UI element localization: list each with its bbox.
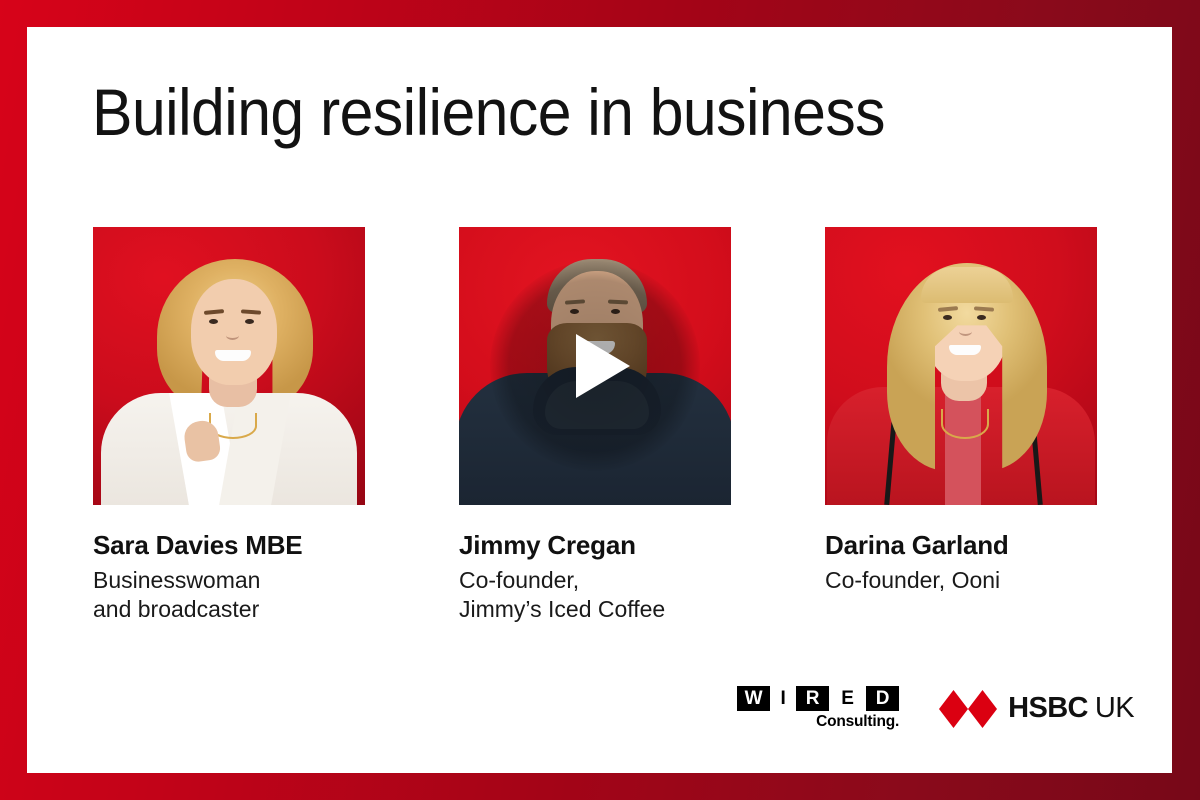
speaker-role: Co-founder, Jimmy’s Iced Coffee bbox=[459, 566, 737, 625]
speaker-name: Sara Davies MBE bbox=[93, 531, 371, 560]
nose-shape bbox=[226, 331, 239, 340]
portrait-darina-garland bbox=[825, 227, 1097, 505]
necklace-shape bbox=[941, 409, 989, 439]
eye-right bbox=[245, 319, 254, 324]
promo-card: Building resilience in business bbox=[0, 0, 1200, 800]
wired-letter-e: E bbox=[831, 686, 864, 711]
hsbc-hexagon-icon bbox=[939, 690, 997, 728]
card-inner: Building resilience in business bbox=[27, 27, 1172, 773]
mouth-shape bbox=[215, 350, 251, 361]
placket-shape bbox=[945, 387, 981, 505]
wired-letter-w: W bbox=[737, 686, 770, 711]
speaker-role: Businesswoman and broadcaster bbox=[93, 566, 371, 625]
wired-consulting-logo: W I R E D Consulting. bbox=[737, 686, 899, 731]
speaker-name: Jimmy Cregan bbox=[459, 531, 737, 560]
mouth-shape bbox=[949, 345, 981, 355]
hsbc-word-main: HSBC bbox=[1008, 692, 1088, 725]
portrait-jimmy-cregan[interactable] bbox=[459, 227, 731, 505]
play-button[interactable] bbox=[459, 227, 731, 505]
wired-subtitle: Consulting. bbox=[816, 713, 899, 731]
hsbc-wordmark: HSBC UK bbox=[1008, 692, 1134, 725]
wired-letter-i: I bbox=[772, 686, 794, 711]
eye-left bbox=[943, 315, 952, 320]
wired-letter-d: D bbox=[866, 686, 899, 711]
speaker-card-darina-garland: Darina Garland Co-founder, Ooni bbox=[825, 227, 1103, 624]
speaker-role: Co-founder, Ooni bbox=[825, 566, 1103, 595]
nose-shape bbox=[959, 327, 972, 336]
speaker-card-jimmy-cregan: Jimmy Cregan Co-founder, Jimmy’s Iced Co… bbox=[459, 227, 737, 624]
play-triangle-icon bbox=[576, 334, 630, 398]
portrait-sara-davies bbox=[93, 227, 365, 505]
eye-left bbox=[209, 319, 218, 324]
logo-bar: W I R E D Consulting. HSBC bbox=[737, 686, 1134, 731]
speakers-row: Sara Davies MBE Businesswoman and broadc… bbox=[27, 227, 1172, 624]
wired-letter-r: R bbox=[796, 686, 829, 711]
hsbc-uk-logo: HSBC UK bbox=[939, 690, 1134, 728]
portrait-figure-sara bbox=[93, 227, 365, 505]
hsbc-word-uk: UK bbox=[1095, 692, 1134, 725]
portrait-figure-darina bbox=[825, 227, 1097, 505]
speaker-card-sara-davies: Sara Davies MBE Businesswoman and broadc… bbox=[93, 227, 371, 624]
eye-right bbox=[977, 315, 986, 320]
speaker-name: Darina Garland bbox=[825, 531, 1103, 560]
wired-wordmark: W I R E D bbox=[737, 686, 899, 711]
page-title: Building resilience in business bbox=[92, 79, 885, 145]
fringe-shape bbox=[921, 267, 1013, 303]
